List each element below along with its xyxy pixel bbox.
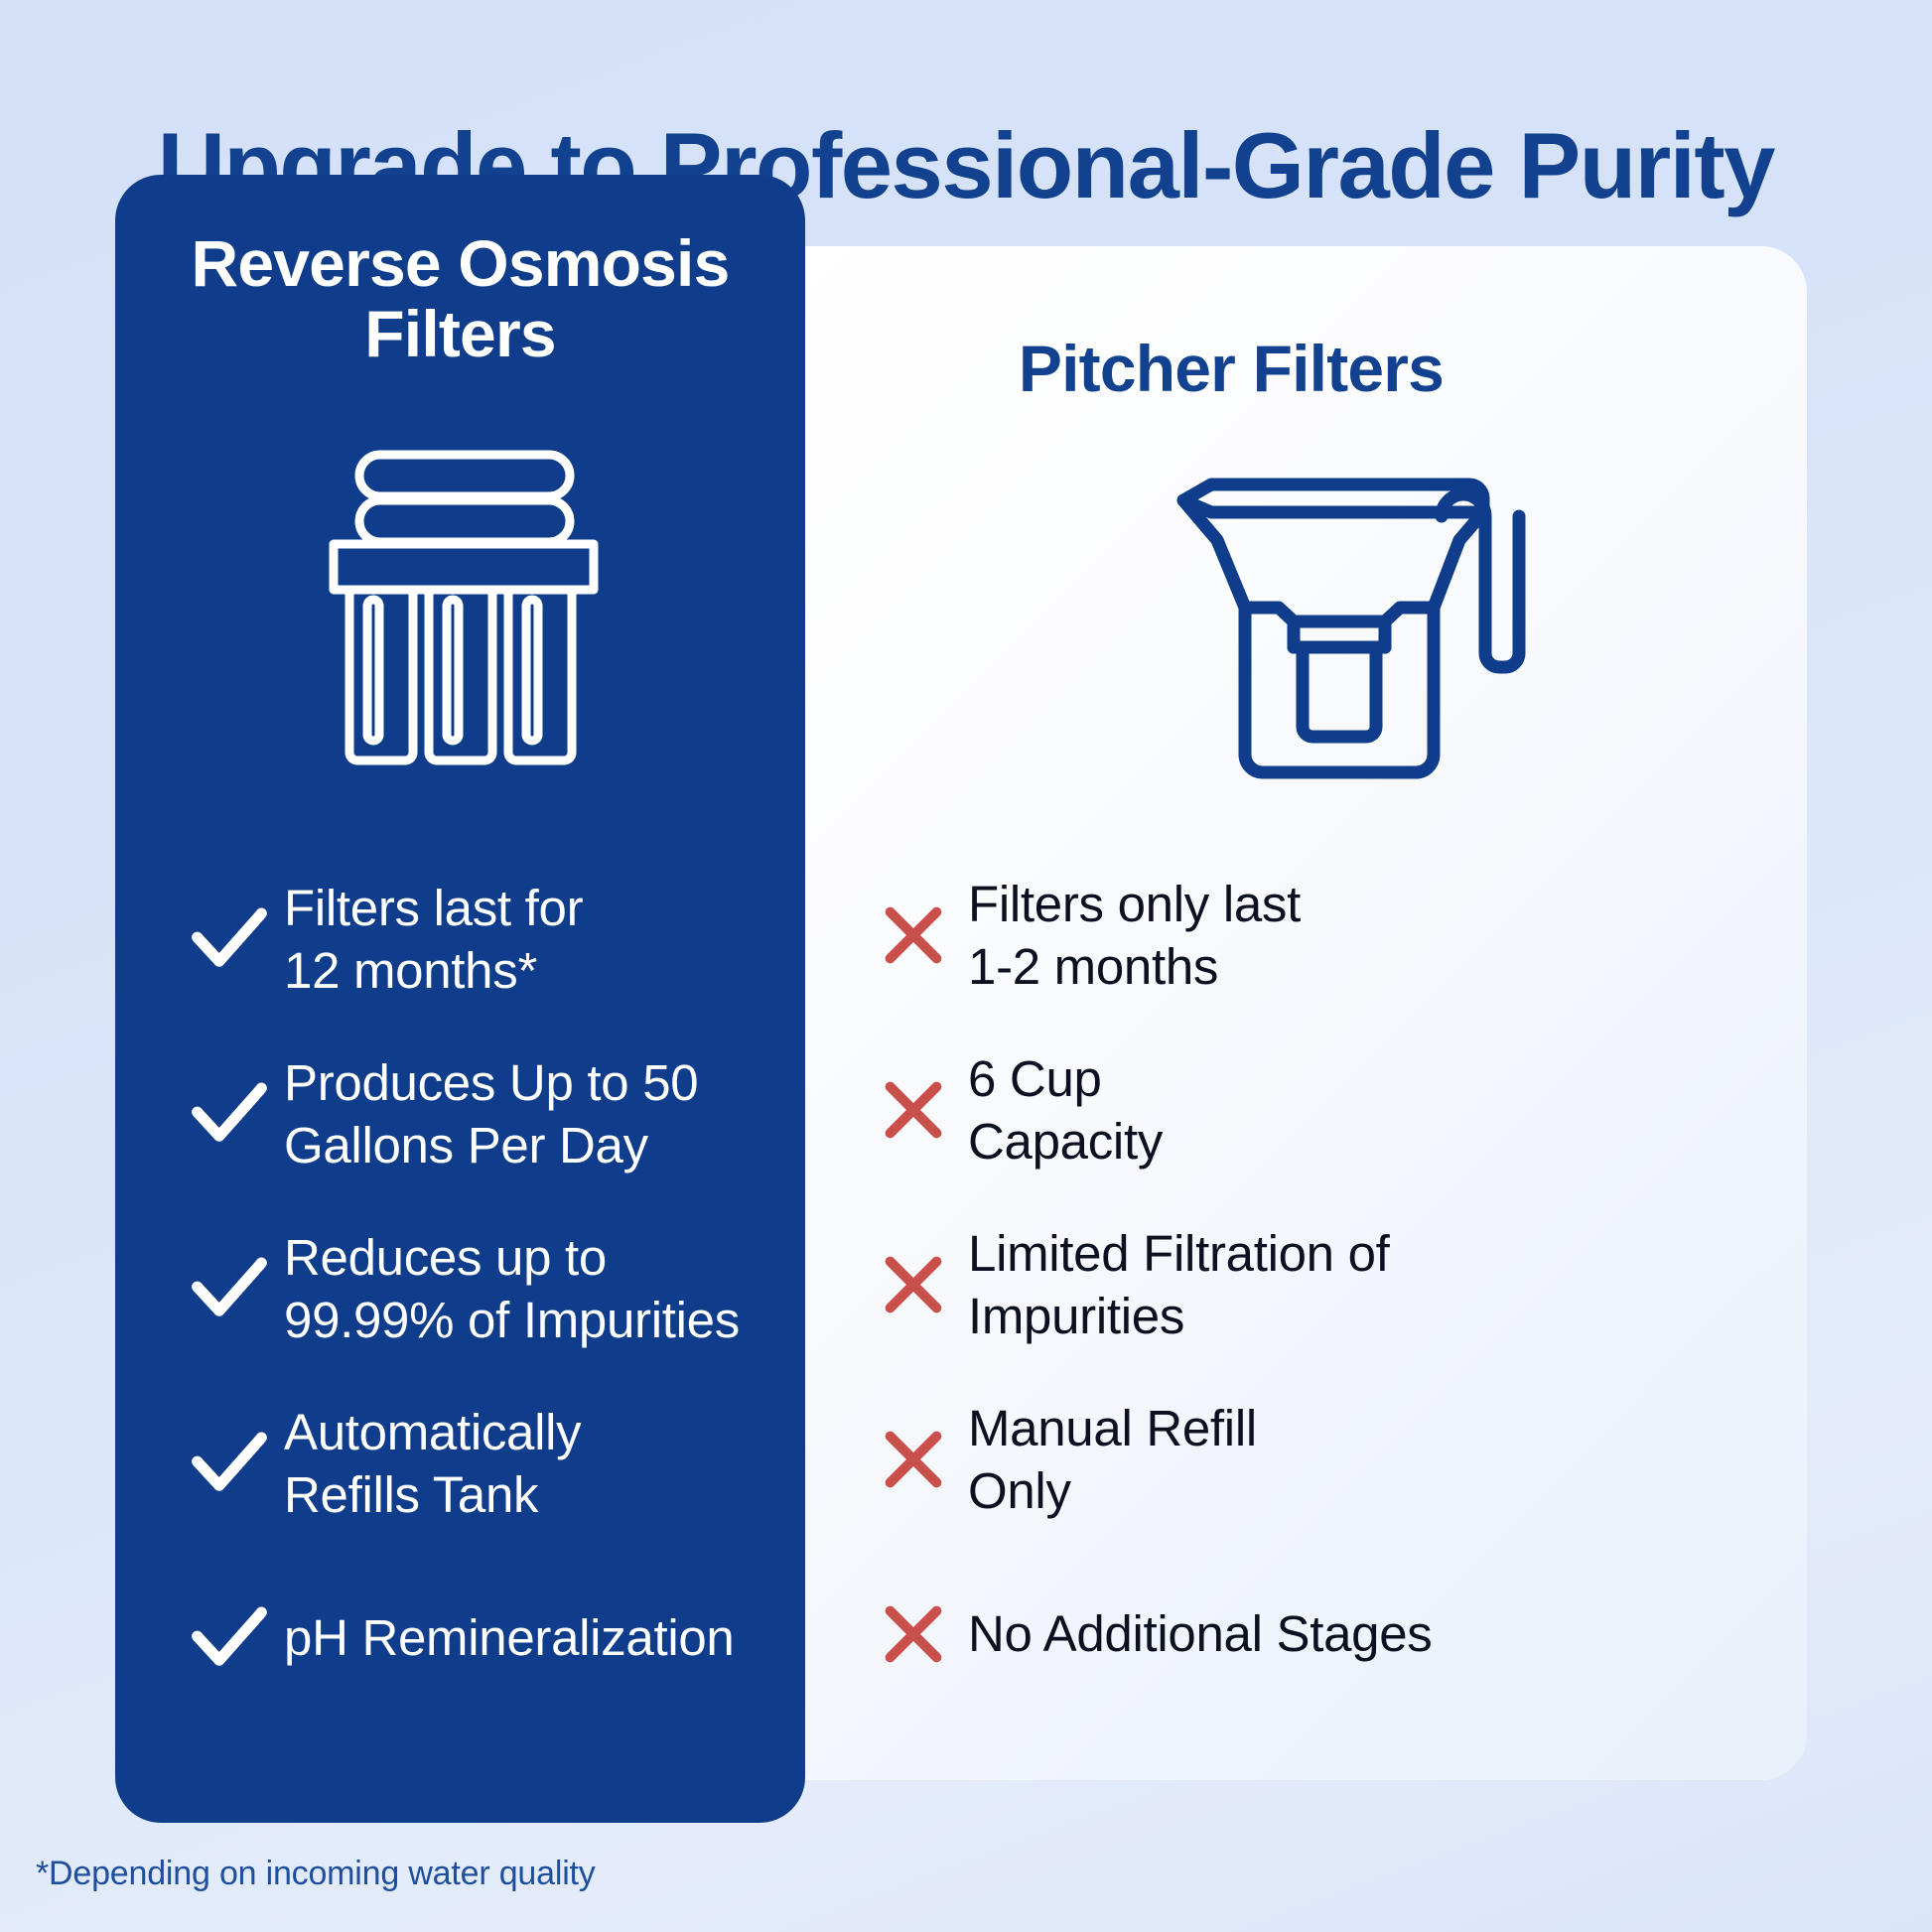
list-item: 6 Cup Capacity (859, 1046, 1613, 1173)
cross-icon (859, 1587, 968, 1682)
list-item-label: Filters last for 12 months* (284, 877, 583, 1002)
list-item: Produces Up to 50 Gallons Per Day (175, 1050, 790, 1177)
reverse-osmosis-heading: Reverse Osmosis Filters (115, 228, 805, 370)
check-icon (175, 1066, 284, 1162)
check-icon (175, 892, 284, 987)
list-item-label: Produces Up to 50 Gallons Per Day (284, 1051, 698, 1176)
list-item-line1: pH Remineralization (284, 1606, 735, 1669)
water-pitcher-icon (1172, 471, 1529, 798)
list-item-label: Manual Refill Only (968, 1397, 1257, 1522)
list-item-line1: Reduces up to (284, 1226, 740, 1289)
list-item: Filters last for 12 months* (175, 876, 790, 1003)
list-item-line1: Filters last for (284, 877, 583, 939)
list-item-line1: Manual Refill (968, 1397, 1257, 1459)
check-icon (175, 1241, 284, 1336)
list-item-line2: Impurities (968, 1285, 1390, 1347)
pitcher-features-list: Filters only last 1-2 months 6 Cup Capac… (859, 872, 1613, 1745)
check-icon (175, 1590, 284, 1686)
pitcher-filters-card: Pitcher Filters (755, 246, 1807, 1780)
list-item: Automatically Refills Tank (175, 1400, 790, 1527)
list-item-label: pH Remineralization (284, 1606, 735, 1669)
check-icon (175, 1416, 284, 1511)
cross-icon (859, 888, 968, 983)
list-item-line2: 12 months* (284, 939, 583, 1002)
cross-icon (859, 1237, 968, 1332)
reverse-osmosis-card: Reverse Osmosis Filters (115, 175, 805, 1823)
list-item: Reduces up to 99.99% of Impurities (175, 1225, 790, 1352)
list-item-line2: Only (968, 1459, 1257, 1522)
list-item-line1: 6 Cup (968, 1047, 1163, 1110)
reverse-osmosis-filter-icon (312, 445, 610, 772)
list-item: No Additional Stages (859, 1571, 1613, 1698)
list-item-label: No Additional Stages (968, 1602, 1433, 1665)
list-item-line2: Refills Tank (284, 1463, 581, 1526)
list-item-line2: Gallons Per Day (284, 1114, 698, 1176)
list-item: pH Remineralization (175, 1575, 790, 1702)
comparison-infographic: Upgrade to Professional-Grade Purity Pit… (0, 0, 1932, 1932)
list-item-line2: Capacity (968, 1110, 1163, 1173)
list-item-line1: Limited Filtration of (968, 1222, 1390, 1285)
list-item-line1: Produces Up to 50 (284, 1051, 698, 1114)
list-item-line2: 99.99% of Impurities (284, 1289, 740, 1351)
reverse-osmosis-features-list: Filters last for 12 months* Produces Up … (175, 876, 790, 1749)
list-item-line1: Filters only last (968, 873, 1301, 935)
pitcher-filters-heading: Pitcher Filters (854, 334, 1608, 404)
list-item-label: Filters only last 1-2 months (968, 873, 1301, 998)
list-item: Filters only last 1-2 months (859, 872, 1613, 999)
footnote: *Depending on incoming water quality (36, 1855, 596, 1893)
cross-icon (859, 1062, 968, 1158)
list-item: Manual Refill Only (859, 1396, 1613, 1523)
list-item: Limited Filtration of Impurities (859, 1221, 1613, 1348)
list-item-label: Limited Filtration of Impurities (968, 1222, 1390, 1347)
list-item-label: Reduces up to 99.99% of Impurities (284, 1226, 740, 1351)
list-item-label: 6 Cup Capacity (968, 1047, 1163, 1173)
cross-icon (859, 1412, 968, 1507)
list-item-label: Automatically Refills Tank (284, 1401, 581, 1526)
list-item-line1: Automatically (284, 1401, 581, 1463)
list-item-line2: 1-2 months (968, 935, 1301, 998)
list-item-line1: No Additional Stages (968, 1602, 1433, 1665)
